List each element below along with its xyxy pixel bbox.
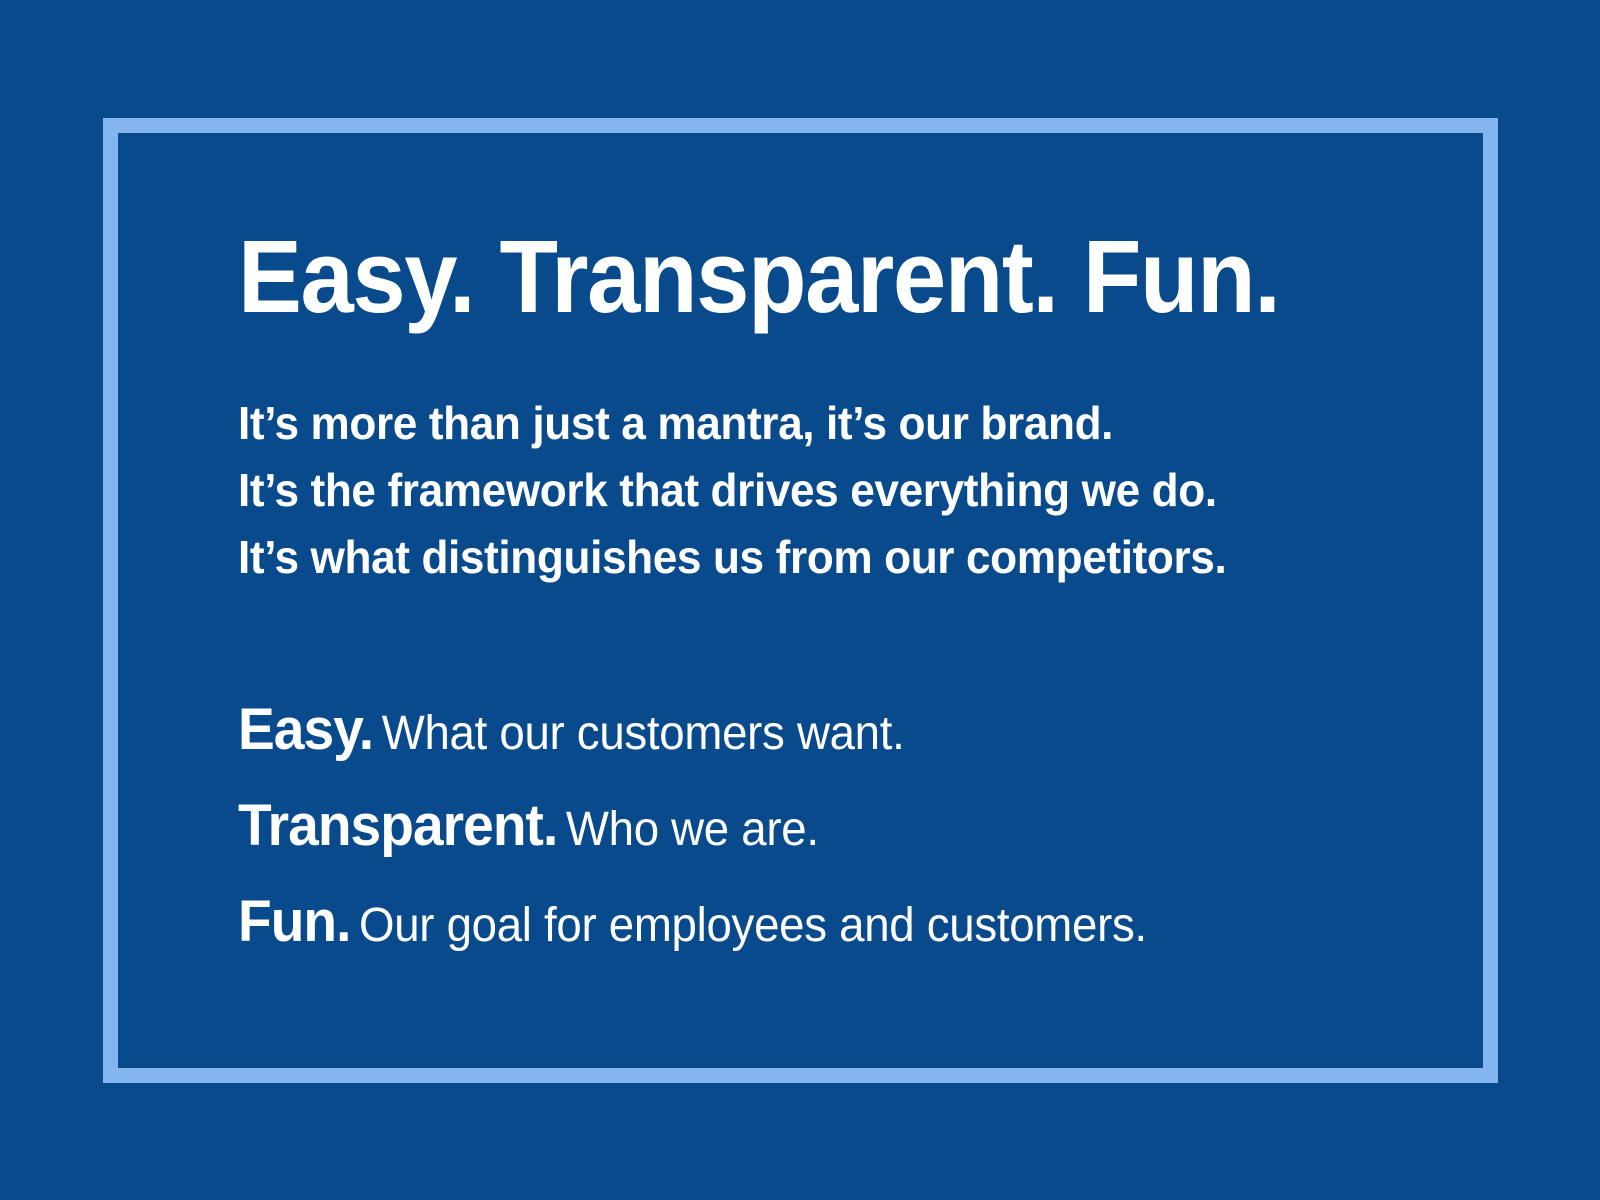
slide-content: Easy. Transparent. Fun. It’s more than j… [238,225,1418,977]
intro-paragraph: It’s more than just a mantra, it’s our b… [238,390,1418,591]
definition-description: Who we are. [566,803,819,856]
intro-line: It’s the framework that drives everythin… [238,457,1371,524]
definition-item: Transparent.Who we are. [238,785,1359,881]
definition-term: Transparent. [238,793,557,858]
definition-item: Easy.What our customers want. [238,689,1359,785]
definition-description: What our customers want. [382,707,905,760]
page-title: Easy. Transparent. Fun. [238,225,1335,328]
intro-line: It’s more than just a mantra, it’s our b… [238,390,1371,457]
definition-list: Easy.What our customers want. Transparen… [238,689,1418,977]
definition-term: Easy. [238,697,373,762]
definition-term: Fun. [238,889,350,954]
definition-description: Our goal for employees and customers. [359,899,1147,952]
slide-canvas: Easy. Transparent. Fun. It’s more than j… [0,0,1600,1200]
definition-item: Fun.Our goal for employees and customers… [238,881,1359,977]
intro-line: It’s what distinguishes us from our comp… [238,524,1371,591]
